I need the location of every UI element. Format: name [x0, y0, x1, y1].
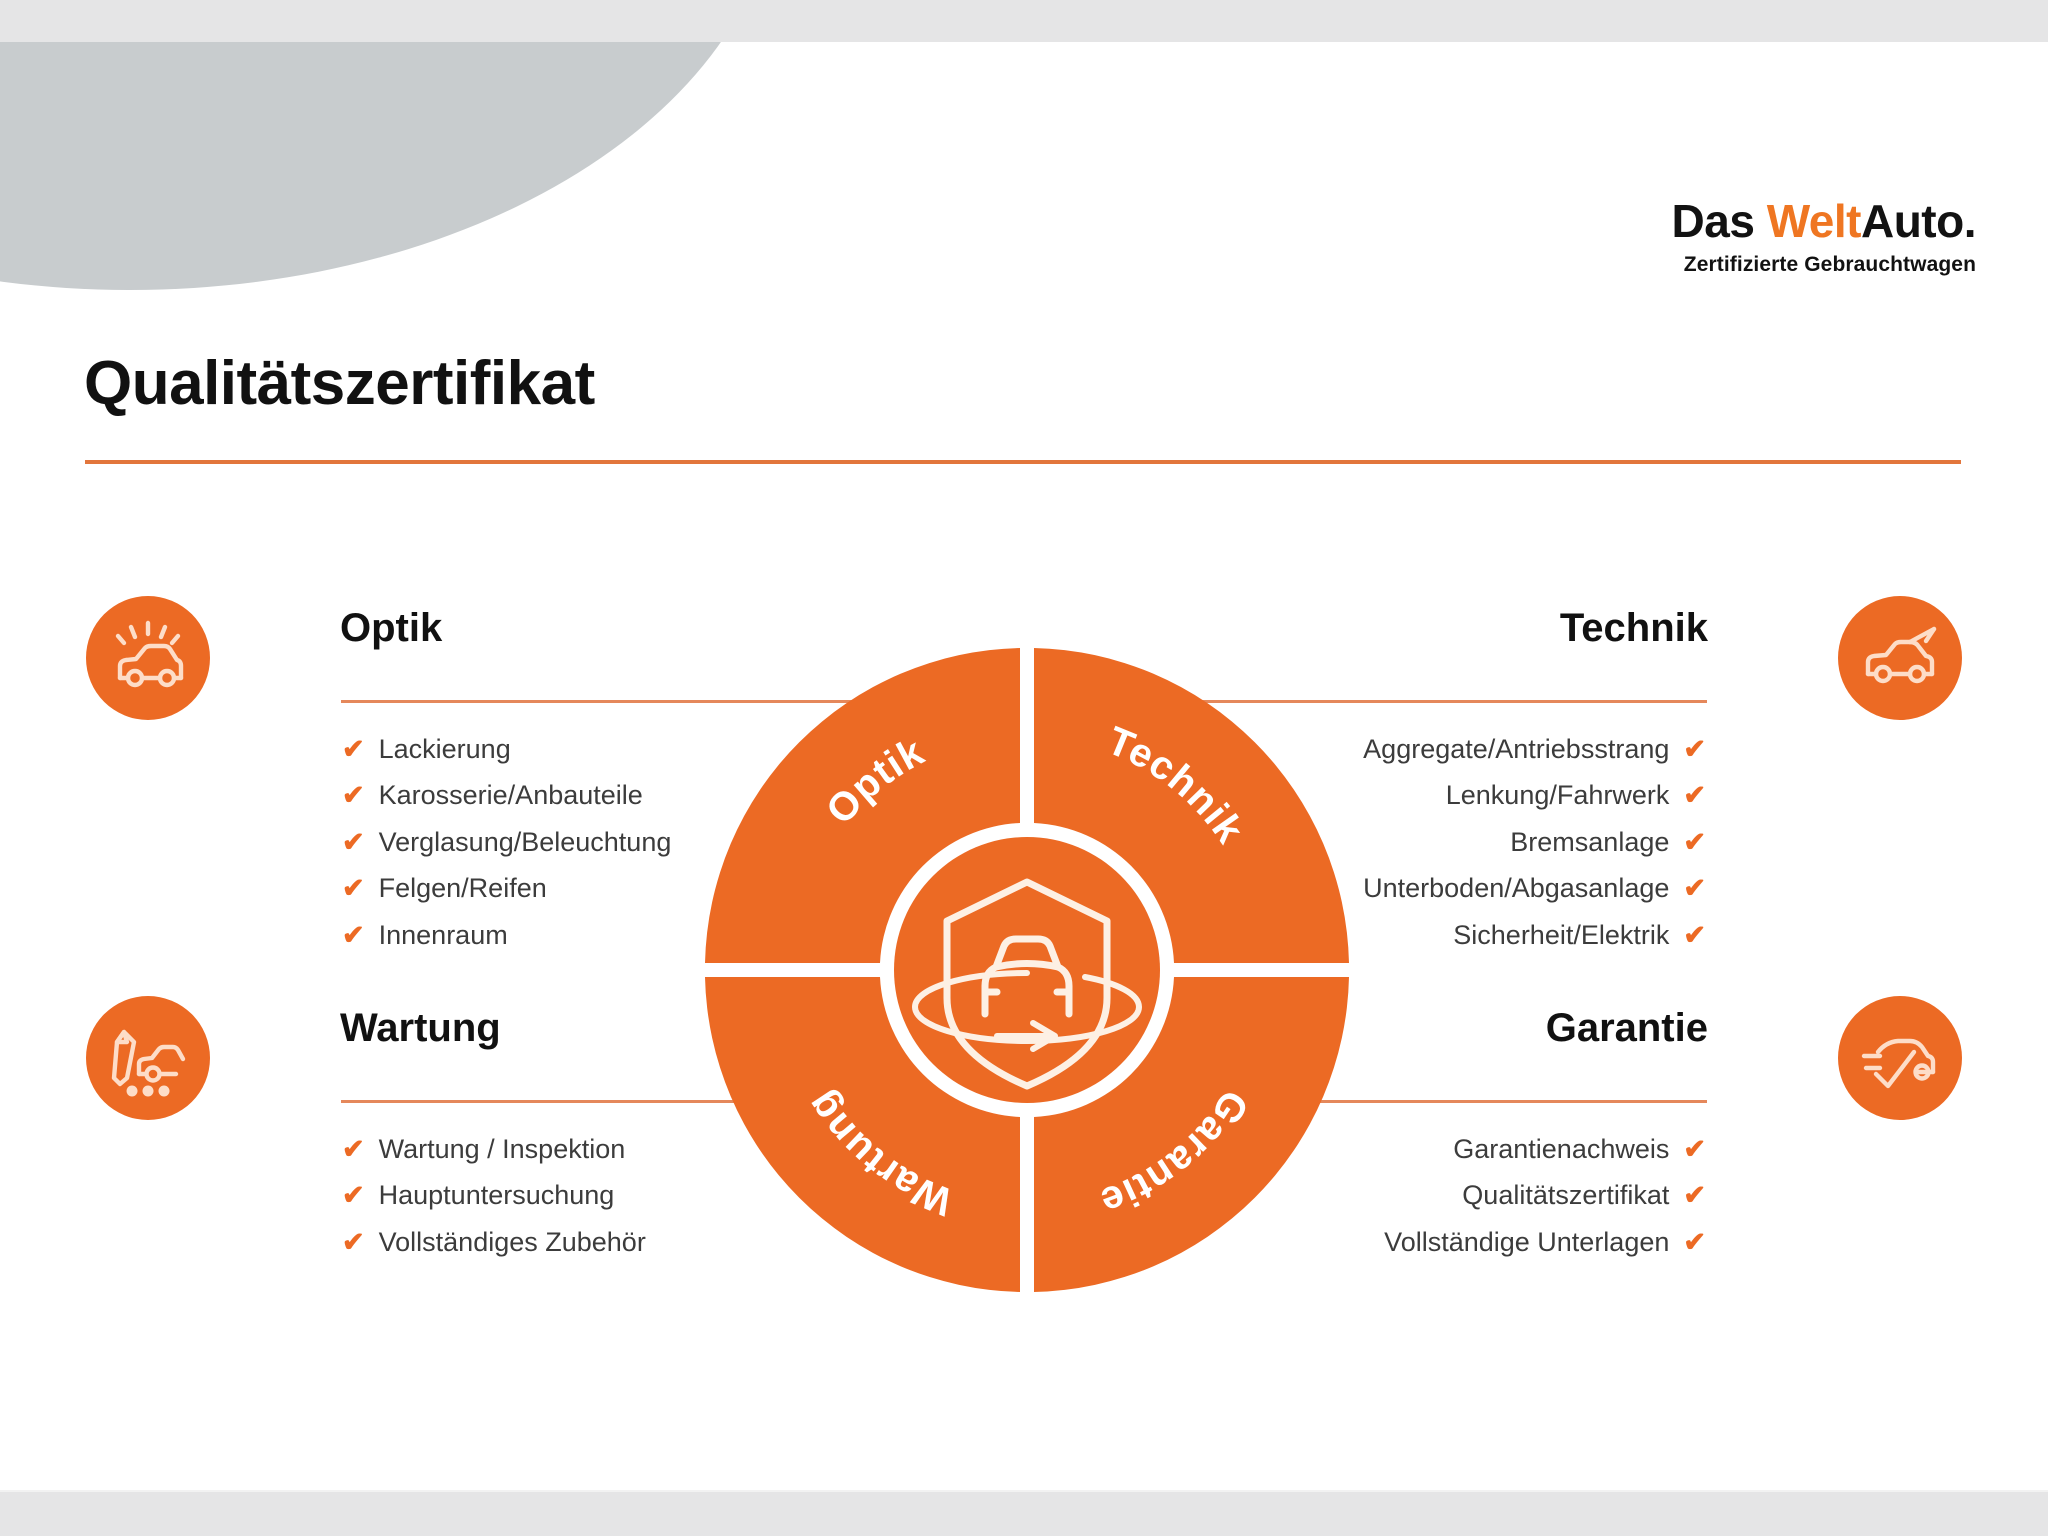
section-heading-garantie: Garantie [1546, 1006, 1708, 1051]
list-item-label: Karosserie/Anbauteile [379, 772, 643, 818]
list-item-label: Lackierung [379, 726, 511, 772]
list-item-label: Bremsanlage [1510, 819, 1669, 865]
letterbox-bottom-bar [0, 1492, 2048, 1536]
decorative-grey-circle [0, 0, 780, 290]
list-item-label: Vollständiges Zubehör [379, 1219, 646, 1265]
certificate-page: Das WeltAuto. Zertifizierte Gebrauchtwag… [0, 0, 2048, 1536]
list-item: ✔Hauptuntersuchung [342, 1172, 646, 1218]
checklist-technik: Aggregate/Antriebsstrang✔ Lenkung/Fahrwe… [1363, 726, 1706, 958]
check-icon: ✔ [1683, 1126, 1706, 1172]
list-item-label: Qualitätszertifikat [1462, 1172, 1669, 1218]
letterbox-top-bar [0, 0, 2048, 42]
list-item-label: Sicherheit/Elektrik [1453, 912, 1669, 958]
check-icon: ✔ [342, 726, 365, 772]
car-shine-icon [86, 596, 210, 720]
section-heading-technik: Technik [1560, 606, 1708, 651]
check-icon: ✔ [1683, 819, 1706, 865]
section-heading-optik: Optik [340, 606, 442, 651]
list-item-label: Lenkung/Fahrwerk [1446, 772, 1670, 818]
list-item: ✔Vollständiges Zubehör [342, 1219, 646, 1265]
page-title: Qualitätszertifikat [84, 348, 595, 419]
list-item-label: Felgen/Reifen [379, 865, 547, 911]
list-item-label: Unterboden/Abgasanlage [1363, 865, 1669, 911]
logo-wordmark: Das WeltAuto. [1672, 198, 1976, 244]
list-item-label: Hauptuntersuchung [379, 1172, 615, 1218]
list-item: ✔Verglasung/Beleuchtung [342, 819, 671, 865]
list-item: Sicherheit/Elektrik✔ [1363, 912, 1706, 958]
list-item: Lenkung/Fahrwerk✔ [1363, 772, 1706, 818]
list-item-label: Verglasung/Beleuchtung [379, 819, 672, 865]
section-heading-wartung: Wartung [340, 1006, 501, 1051]
checklist-garantie: Garantienachweis✔ Qualitätszertifikat✔ V… [1384, 1126, 1706, 1265]
list-item-label: Innenraum [379, 912, 508, 958]
logo-part-das: Das [1672, 195, 1767, 247]
car-wrench-icon [86, 996, 210, 1120]
list-item: Aggregate/Antriebsstrang✔ [1363, 726, 1706, 772]
list-item: Qualitätszertifikat✔ [1384, 1172, 1706, 1218]
check-icon: ✔ [342, 1126, 365, 1172]
check-icon: ✔ [1683, 772, 1706, 818]
check-icon: ✔ [1683, 865, 1706, 911]
title-divider [85, 460, 1961, 464]
check-icon: ✔ [342, 865, 365, 911]
check-icon: ✔ [342, 772, 365, 818]
quality-wheel-diagram: Optik Technik Garantie Wartung [697, 640, 1357, 1300]
check-icon: ✔ [342, 1219, 365, 1265]
check-icon: ✔ [1683, 726, 1706, 772]
list-item: ✔Wartung / Inspektion [342, 1126, 646, 1172]
list-item: ✔Lackierung [342, 726, 671, 772]
car-check-icon [1838, 996, 1962, 1120]
checklist-wartung: ✔Wartung / Inspektion ✔Hauptuntersuchung… [342, 1126, 646, 1265]
check-icon: ✔ [1683, 912, 1706, 958]
list-item: Garantienachweis✔ [1384, 1126, 1706, 1172]
list-item: ✔Karosserie/Anbauteile [342, 772, 671, 818]
logo-tagline: Zertifizierte Gebrauchtwagen [1672, 253, 1976, 277]
check-icon: ✔ [342, 912, 365, 958]
check-icon: ✔ [1683, 1219, 1706, 1265]
logo-part-auto: Auto. [1861, 195, 1976, 247]
logo-part-welt: Welt [1767, 195, 1861, 247]
list-item-label: Wartung / Inspektion [379, 1126, 626, 1172]
check-icon: ✔ [342, 819, 365, 865]
list-item: Vollständige Unterlagen✔ [1384, 1219, 1706, 1265]
check-icon: ✔ [342, 1172, 365, 1218]
car-open-hood-icon [1838, 596, 1962, 720]
list-item-label: Vollständige Unterlagen [1384, 1219, 1669, 1265]
check-icon: ✔ [1683, 1172, 1706, 1218]
list-item: Bremsanlage✔ [1363, 819, 1706, 865]
brand-logo: Das WeltAuto. Zertifizierte Gebrauchtwag… [1672, 198, 1976, 277]
list-item-label: Aggregate/Antriebsstrang [1363, 726, 1669, 772]
list-item: ✔Felgen/Reifen [342, 865, 671, 911]
list-item: ✔Innenraum [342, 912, 671, 958]
list-item-label: Garantienachweis [1453, 1126, 1669, 1172]
checklist-optik: ✔Lackierung ✔Karosserie/Anbauteile ✔Verg… [342, 726, 671, 958]
list-item: Unterboden/Abgasanlage✔ [1363, 865, 1706, 911]
